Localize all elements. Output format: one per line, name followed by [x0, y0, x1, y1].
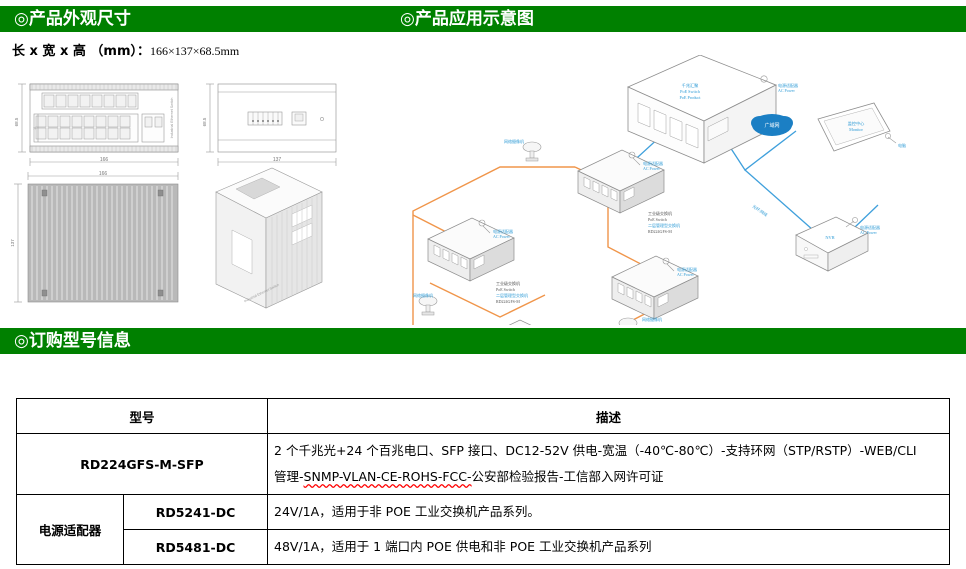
description-main: 2 个千兆光+24 个百兆电口、SFP 接口、DC12-52V 供电-宽温（-4…	[268, 434, 950, 495]
description-line-2: 管理-SNMP-VLAN-CE-ROHS-FCC-公安部检验报告-工信部入网许可…	[274, 464, 943, 490]
svg-text:工业级交换机: 工业级交换机	[648, 210, 672, 216]
dimension-line: 长 x 宽 x 高 （mm）：166×137×68.5mm	[12, 40, 239, 59]
table-header-row: 型号 描述	[17, 399, 950, 434]
svg-text:电脑: 电脑	[898, 142, 906, 148]
table-row: RD5481-DC 48V/1A，适用于 1 端口内 POE 供电和非 POE …	[17, 530, 950, 565]
svg-text:监控中心: 监控中心	[848, 120, 866, 127]
svg-text:AC Power: AC Power	[778, 88, 795, 93]
product-dimension-drawings: 68.5 166 11 Industrial Ethernet Switch	[0, 62, 400, 320]
svg-text:RD224GFS-M: RD224GFS-M	[648, 229, 672, 234]
svg-text:166: 166	[99, 171, 108, 177]
model-name-adapter-1: RD5241-DC	[124, 495, 268, 530]
svg-text:Monitor: Monitor	[849, 127, 863, 132]
svg-text:工业级交换机: 工业级交换机	[496, 280, 520, 286]
model-name-main: RD224GFS-M-SFP	[17, 434, 268, 495]
svg-text:RD224GFS-M: RD224GFS-M	[496, 299, 520, 304]
svg-text:光纤/网线: 光纤/网线	[751, 203, 769, 218]
desc-pre: 管理-	[274, 469, 304, 484]
svg-text:二层管理型交换机: 二层管理型交换机	[496, 292, 528, 298]
svg-text:AC Power: AC Power	[677, 272, 694, 277]
desc-post: 公安部检验报告-工信部入网许可证	[472, 469, 664, 484]
svg-text:千兆汇聚: 千兆汇聚	[682, 82, 700, 89]
section-title-dimensions: ◎产品外观尺寸	[14, 6, 131, 32]
svg-text:NVR: NVR	[825, 235, 834, 240]
section-title-ordering: ◎订购型号信息	[14, 328, 131, 354]
svg-text:137: 137	[10, 239, 15, 247]
svg-text:11: 11	[33, 126, 37, 130]
model-name-adapter-2: RD5481-DC	[124, 530, 268, 565]
svg-text:二层管理型交换机: 二层管理型交换机	[648, 222, 680, 228]
svg-text:68.5: 68.5	[202, 117, 207, 126]
description-line-1: 2 个千兆光+24 个百兆电口、SFP 接口、DC12-52V 供电-宽温（-4…	[274, 438, 943, 464]
svg-text:PoE Switch: PoE Switch	[648, 217, 667, 222]
svg-text:137: 137	[273, 157, 282, 163]
svg-text:网络摄像机: 网络摄像机	[642, 316, 662, 322]
desc-spellcheck-marked: SNMP-VLAN-CE-ROHS-FCC-	[304, 469, 472, 484]
svg-text:广域网: 广域网	[764, 122, 779, 129]
description-adapter-1: 24V/1A，适用于非 POE 工业交换机产品系列。	[268, 495, 950, 530]
application-topology-diagram: 千兆汇聚 PoE Switch PoE Product 电源适配器 AC Pow…	[400, 55, 966, 325]
svg-text:网络摄像机: 网络摄像机	[504, 138, 524, 144]
svg-text:PoE Product: PoE Product	[679, 95, 701, 100]
column-header-model: 型号	[17, 399, 268, 434]
svg-text:PoE Switch: PoE Switch	[680, 89, 701, 94]
svg-text:166: 166	[100, 157, 109, 163]
ordering-info-table: 型号 描述 RD224GFS-M-SFP 2 个千兆光+24 个百兆电口、SFP…	[16, 398, 950, 565]
svg-text:AC Power: AC Power	[860, 230, 877, 235]
dimension-label: 长 x 宽 x 高 （mm）：	[12, 44, 150, 59]
adapter-group-label: 电源适配器	[17, 495, 124, 565]
table-row: RD224GFS-M-SFP 2 个千兆光+24 个百兆电口、SFP 接口、DC…	[17, 434, 950, 495]
dimension-value: 166×137×68.5mm	[150, 44, 239, 58]
svg-text:AC Power: AC Power	[493, 234, 510, 239]
column-header-description: 描述	[268, 399, 950, 434]
description-adapter-2: 48V/1A，适用于 1 端口内 POE 供电和非 POE 工业交换机产品系列	[268, 530, 950, 565]
section-title-application: ◎产品应用示意图	[400, 6, 534, 32]
section-header-bar-ordering	[0, 328, 966, 354]
table-row: 电源适配器 RD5241-DC 24V/1A，适用于非 POE 工业交换机产品系…	[17, 495, 950, 530]
svg-text:PoE Switch: PoE Switch	[496, 287, 515, 292]
svg-text:AC Power: AC Power	[643, 166, 660, 171]
svg-text:68.5: 68.5	[14, 117, 19, 126]
svg-text:网络摄像机: 网络摄像机	[413, 292, 433, 298]
svg-text:Industrial Ethernet Switch: Industrial Ethernet Switch	[170, 98, 174, 139]
